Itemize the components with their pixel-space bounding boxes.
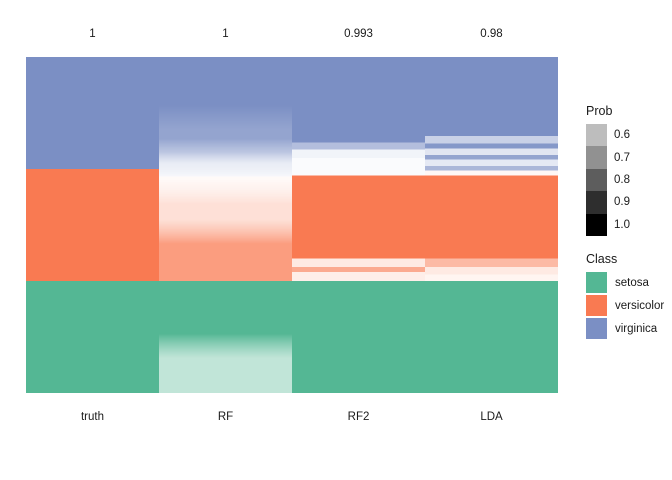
legend-prob-title: Prob bbox=[586, 104, 672, 118]
column-accuracy-RF2: 0.993 bbox=[344, 28, 373, 40]
heatmap-column-RF2 bbox=[292, 57, 425, 393]
legend-class: Class setosaversicolorvirginica bbox=[586, 252, 672, 340]
x-axis-label-RF2: RF2 bbox=[348, 411, 370, 423]
legend-class-row-virginica: virginica bbox=[586, 317, 672, 340]
heatmap-panel bbox=[26, 57, 558, 393]
legend-class-swatch-setosa bbox=[586, 272, 607, 293]
legend-class-swatch-versicolor bbox=[586, 295, 607, 316]
x-axis-label-RF: RF bbox=[218, 411, 233, 423]
legend-class-title: Class bbox=[586, 252, 672, 266]
column-accuracy-truth: 1 bbox=[89, 28, 95, 40]
column-accuracy-LDA: 0.98 bbox=[480, 28, 502, 40]
x-axis-label-truth: truth bbox=[81, 411, 104, 423]
legend-class-label-versicolor: versicolor bbox=[615, 300, 664, 312]
legend-class-row-versicolor: versicolor bbox=[586, 294, 672, 317]
heatmap-column-LDA bbox=[425, 57, 558, 393]
legend-class-entries: setosaversicolorvirginica bbox=[586, 271, 672, 340]
legend-class-label-virginica: virginica bbox=[615, 323, 657, 335]
legend-class-row-setosa: setosa bbox=[586, 271, 672, 294]
legend-prob-tick-1.0: 1.0 bbox=[614, 219, 630, 231]
heatmap-column-RF bbox=[159, 57, 292, 393]
legend-prob-tick-0.8: 0.8 bbox=[614, 174, 630, 186]
legend-prob-swatch-0.8 bbox=[586, 169, 607, 191]
legend-prob-swatch-1.0 bbox=[586, 214, 607, 236]
legend-prob-swatch-0.7 bbox=[586, 146, 607, 168]
legend-prob-tick-0.7: 0.7 bbox=[614, 152, 630, 164]
legend-prob-swatch-0.6 bbox=[586, 124, 607, 146]
legend-prob-tick-0.9: 0.9 bbox=[614, 196, 630, 208]
plot-root: 110.9930.98 truthRFRF2LDA Prob 0.60.70.8… bbox=[0, 0, 672, 480]
heatmap-column-truth bbox=[26, 57, 159, 393]
legend-prob-swatch-0.9 bbox=[586, 191, 607, 213]
legend-class-swatch-virginica bbox=[586, 318, 607, 339]
legend-prob-tick-0.6: 0.6 bbox=[614, 129, 630, 141]
x-axis-label-LDA: LDA bbox=[480, 411, 502, 423]
legend-area: Prob 0.60.70.80.91.0 Class setosaversico… bbox=[586, 104, 672, 340]
column-accuracy-RF: 1 bbox=[222, 28, 228, 40]
legend-prob: Prob 0.60.70.80.91.0 bbox=[586, 104, 672, 236]
legend-class-label-setosa: setosa bbox=[615, 277, 649, 289]
legend-prob-scale: 0.60.70.80.91.0 bbox=[586, 124, 662, 236]
legend-prob-gradient-bar bbox=[586, 124, 607, 236]
